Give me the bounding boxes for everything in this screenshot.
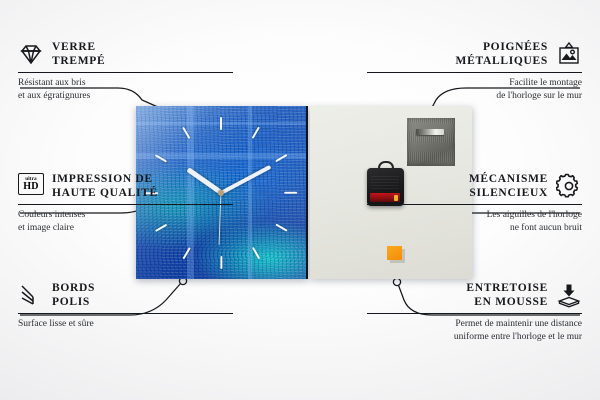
feature-desc-line1: Permet de maintenir une distance [367,318,582,331]
feature-title-line2: MÉTALLIQUES [456,54,548,68]
clock-tick [275,223,287,232]
feature-title-line2: POLIS [52,295,95,309]
clock-tick [275,153,287,162]
feature-rule [18,204,233,205]
feature-title-line1: POIGNÉES [456,40,548,54]
feature-desc-line1: Facilite le montage [367,77,582,90]
infographic-canvas: VERRE TREMPÉ Résistant aux bris et aux é… [0,0,600,400]
mechanism-hanging-loop [378,161,394,171]
feature-rule [18,72,233,73]
feature-title-line1: IMPRESSION DE [52,172,158,186]
polished-edges-icon [18,282,44,308]
feature-desc-line1: Résistant aux bris [18,77,233,90]
picture-hanger-icon [556,41,582,67]
feature-desc-line1: Couleurs intenses [18,209,233,222]
clock-tick [182,126,191,138]
feature-entretoise-en-mousse: ENTRETOISE EN MOUSSE Permet de maintenir… [367,281,582,343]
feature-desc-line2: uniforme entre l'horloge et le mur [367,331,582,344]
clock-tick [220,117,222,130]
clock-tick [251,126,260,138]
feature-title-line2: SILENCIEUX [469,186,548,200]
handle-slot [416,129,444,135]
feature-title-line2: TREMPÉ [52,54,105,68]
feature-desc-line2: et image claire [18,222,233,235]
foam-spacer [387,246,402,260]
feature-desc-line1: Les aiguilles de l'horloge [367,209,582,222]
feature-rule [367,204,582,205]
feature-impression-haute-qualite: ultra HD IMPRESSION DE HAUTE QUALITÉ Cou… [18,172,233,234]
foam-spacer-icon [556,282,582,308]
ultra-hd-icon: ultra HD [18,173,44,199]
clock-tick [182,246,191,258]
feature-title-line1: ENTRETOISE [466,281,548,295]
feature-poignees-metalliques: POIGNÉES MÉTALLIQUES Facilite le montage… [367,40,582,102]
feature-title-line1: MÉCANISME [469,172,548,186]
feature-rule [367,72,582,73]
clock-tick [251,246,260,258]
feature-title-line1: VERRE [52,40,105,54]
clock-tick [155,153,167,162]
feature-rule [367,313,582,314]
feature-title-line1: BORDS [52,281,95,295]
feature-title-line2: EN MOUSSE [466,295,548,309]
feature-desc-line1: Surface lisse et sûre [18,318,233,331]
feature-rule [18,313,233,314]
feature-desc-line2: de l'horloge sur le mur [367,90,582,103]
gear-icon [556,173,582,199]
feature-title-line2: HAUTE QUALITÉ [52,186,158,200]
feature-desc-line2: ne font aucun bruit [367,222,582,235]
clock-tick [220,256,222,269]
ultra-hd-icon-main: HD [23,182,39,192]
feature-desc-line2: et aux égratignures [18,90,233,103]
feature-verre-trempe: VERRE TREMPÉ Résistant aux bris et aux é… [18,40,233,102]
feature-bords-polis: BORDS POLIS Surface lisse et sûre [18,281,233,331]
diamond-icon [18,41,44,67]
feature-mecanisme-silencieux: MÉCANISME SILENCIEUX Les aiguilles de l'… [367,172,582,234]
metal-wall-handle [407,118,455,166]
clock-tick [284,191,297,193]
